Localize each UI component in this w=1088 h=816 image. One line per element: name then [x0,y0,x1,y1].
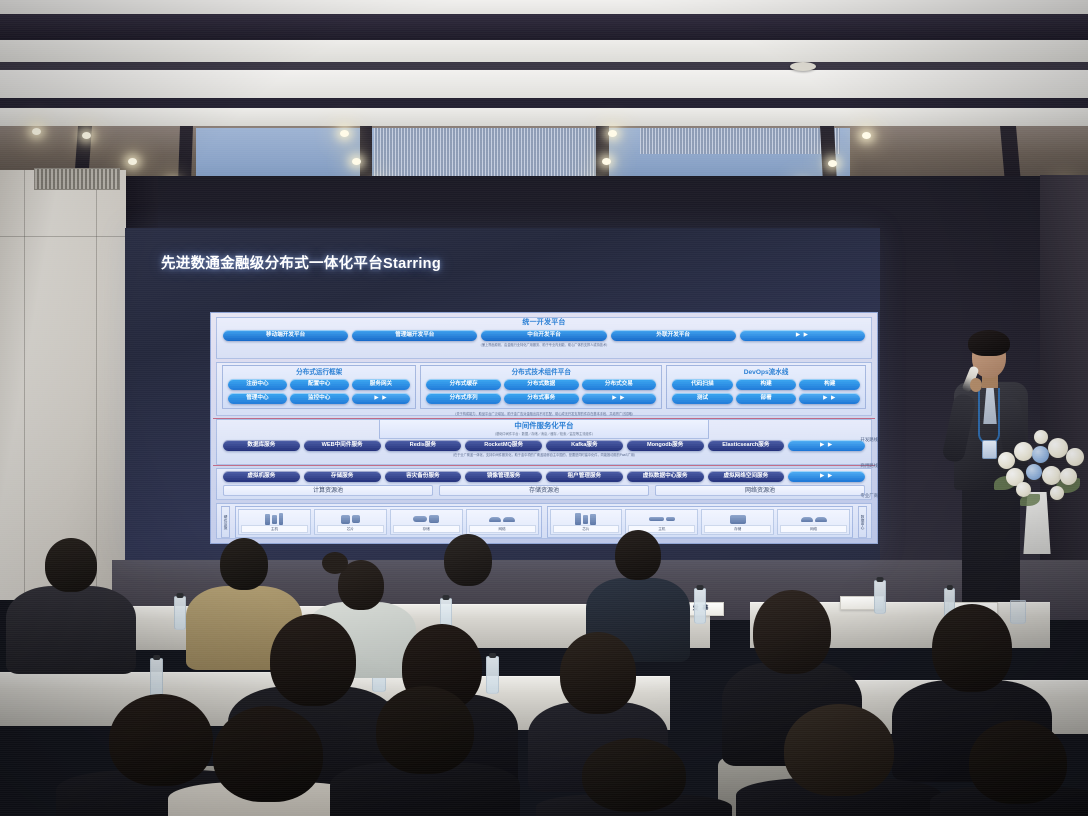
attendee [6,556,136,674]
wall-seam [24,170,25,600]
attendee-head [213,706,323,802]
pill-distributed-data[interactable]: 分布式数据 [504,379,579,390]
hw-cell-storage: 存储 [701,509,774,535]
wall-seam [96,170,97,600]
hw-label: 存储 [393,525,460,533]
pill-redis-service[interactable]: Redis服务 [385,440,462,451]
unified-dev-platform-row: 统一开发平台 移动端开发平台 管理端开发平台 中台开发平台 外联开发平台 ▶ ▶… [216,317,872,359]
attendee-head [376,686,474,774]
col-heading-components: 分布式技术组件平台 [424,368,658,378]
virtualization-pills: 虚拟机服务 存储服务 容灾备份服务 镜像管理服务 租户管理服务 虚拟数据中心服务… [217,469,871,484]
storage-icon [391,512,462,526]
pill-web-middleware-service[interactable]: WEB中间件服务 [304,440,381,451]
pool-network: 网络资源池 [655,485,865,496]
pill-virtual-datacenter-service[interactable]: 虚拟数据中心服务 [627,471,704,482]
flower-bloom [1060,468,1077,485]
attendee-head [932,604,1012,692]
pill-code-scan[interactable]: 代码扫描 [672,379,733,390]
hardware-groups: 硬件设施 主机 芯片 [217,504,871,540]
ceiling-downlight [352,158,361,165]
attendee-head [969,720,1067,804]
attendee [330,700,520,816]
pill-more-arrow[interactable]: ▶ ▶ [740,330,865,341]
components-items: 分布式缓存 分布式数据 分布式交易 分布式序列 分布式事务 ▶ ▶ [424,378,658,405]
hardware-right-label: 数据中心 [858,506,867,538]
unified-dev-heading: 统一开发平台 [217,318,871,328]
hw-label: 芯片 [553,525,620,533]
flower-bloom [1066,448,1084,466]
flower-bloom [1016,482,1031,497]
hw-cell-network: 网络 [777,509,850,535]
pill-more-arrow[interactable]: ▶ ▶ [799,393,860,404]
pool-compute: 计算资源池 [223,485,433,496]
attendee [930,736,1088,816]
hw-label: 存储 [704,525,771,533]
presenter-hair [968,330,1010,356]
hw-label: 芯片 [317,525,384,533]
attendee-body [6,586,136,674]
hw-cell-chip: 芯片 [314,509,387,535]
middleware-footnote: （在于业广覆盖一体化，支持中间件服务化，助于金中项的广覆盖能够自主中国的，是要是… [217,453,871,458]
chip-icon [551,512,622,526]
ceiling-band-white [0,40,1088,62]
slide-title: 先进数通金融级分布式一体化平台Starring [161,252,441,273]
ceiling-downlight [128,158,137,165]
water-bottle [694,588,706,624]
flower-bloom [1014,442,1033,461]
pill-database-service[interactable]: 数据库服务 [223,440,300,451]
flower-bloom-blue [1026,464,1042,480]
pill-admin-dev[interactable]: 管理端开发平台 [352,330,477,341]
hw-label: 网络 [469,525,536,533]
attendee-head [444,534,492,586]
ceiling-downlight [862,132,871,139]
pill-manage-center[interactable]: 管理中心 [228,393,287,404]
pill-backup-service[interactable]: 容灾备份服务 [385,471,462,482]
attendee [536,746,732,816]
attendee-head [220,538,268,590]
middleware-pills: 数据库服务 WEB中间件服务 Redis服务 RocketMQ服务 Kafka服… [217,438,871,453]
middleware-heading-note: （基础中间件平台：数据／存储／消息／缓存／检索／监控等主流组件） [380,432,708,437]
wall-air-vent [34,168,120,190]
ceiling-downlight [340,130,349,137]
ceiling-air-grille [640,128,840,154]
ceiling-band-white [0,0,1088,14]
pill-more-arrow[interactable]: ▶ ▶ [582,393,657,404]
pill-distributed-trade[interactable]: 分布式交易 [582,379,657,390]
middleware-heading: 中间件服务化平台 [380,420,708,432]
middle-columns-row: 分布式运行框架 注册中心 配置中心 服务网关 管理中心 监控中心 ▶ ▶ 分布式… [216,362,872,416]
ceiling-downlight [828,160,837,167]
attendee [736,722,942,816]
water-bottle [174,596,186,630]
middle-columns-footnote: （关于构成能力、助品平台广泛增加，助于金广告对金融出具不可匹配、助心成无开发支撑… [217,412,871,417]
slide-diagram: 统一开发平台 移动端开发平台 管理端开发平台 中台开发平台 外联开发平台 ▶ ▶… [210,312,878,544]
hw-label: 主机 [241,525,308,533]
pill-distributed-sequence[interactable]: 分布式序列 [426,393,501,404]
flower-bloom [1042,466,1061,485]
virtualization-row: 虚拟机服务 存储服务 容灾备份服务 镜像管理服务 租户管理服务 虚拟数据中心服务… [216,468,872,500]
runtime-items: 注册中心 配置中心 服务网关 管理中心 监控中心 ▶ ▶ [226,378,412,405]
wall-seam [0,236,126,237]
flower-arrangement [990,418,1088,558]
pill-rocketmq-service[interactable]: RocketMQ服务 [465,440,542,451]
pill-kafka-service[interactable]: Kafka服务 [546,440,623,451]
storage-icon [702,512,773,526]
pill-registry-center[interactable]: 注册中心 [228,379,287,390]
flower-bloom [1048,438,1068,458]
pill-virtual-network-service[interactable]: 虚拟网络空间服务 [708,471,785,482]
pill-more-arrow[interactable]: ▶ ▶ [352,393,411,404]
attendee-head [270,614,356,706]
pill-distributed-cache[interactable]: 分布式缓存 [426,379,501,390]
attendee-hair-bun [322,552,348,574]
ceiling-downlight [32,128,41,135]
ceiling [0,0,1088,196]
hardware-left-label: 硬件设施 [221,506,230,538]
pill-more-arrow[interactable]: ▶ ▶ [788,471,865,482]
ceiling-band-dark [0,98,1088,108]
pill-service-gateway[interactable]: 服务网关 [352,379,411,390]
hw-cell-chip: 芯片 [550,509,623,535]
pill-external-dev[interactable]: 外联开发平台 [611,330,736,341]
pill-build-2[interactable]: 构建 [799,379,860,390]
pill-elasticsearch-service[interactable]: Elasticsearch服务 [708,440,785,451]
flower-bloom [1050,486,1064,500]
attendee-head [45,538,97,592]
audience-area: 固 航 爱 摹 [0,560,1088,816]
attendee-head [560,632,636,714]
ceiling-downlight [82,132,91,139]
pill-test[interactable]: 测试 [672,393,733,404]
pill-mobile-dev[interactable]: 移动端开发平台 [223,330,348,341]
water-bottle [150,658,163,698]
server-icon [626,512,697,526]
attendee-head [753,590,831,674]
pill-image-mgmt-service[interactable]: 镜像管理服务 [465,471,542,482]
hardware-group: 主机 芯片 存储 [235,506,542,538]
column-tech-components: 分布式技术组件平台 分布式缓存 分布式数据 分布式交易 分布式序列 分布式事务 … [420,365,662,409]
hw-label: 网络 [780,525,847,533]
pill-mongodb-service[interactable]: Mongodb服务 [627,440,704,451]
middleware-row: 中间件服务化平台 （基础中间件平台：数据／存储／消息／缓存／检索／监控等主流组件… [216,419,872,465]
pill-deploy[interactable]: 部署 [736,393,797,404]
network-icon [467,512,538,526]
ceiling-downlight [608,130,617,137]
hardware-group: 芯片 主机 存储 [547,506,854,538]
conference-hall-photo: 先进数通金融级分布式一体化平台Starring 统一开发平台 移动端开发平台 管… [0,0,1088,816]
water-bottle [874,580,886,614]
pill-storage-service[interactable]: 存储服务 [304,471,381,482]
col-heading-devops: DevOps流水线 [670,368,862,378]
attendee-head [784,704,894,796]
middleware-banner: 中间件服务化平台 （基础中间件平台：数据／存储／消息／缓存／检索／监控等主流组件… [379,419,709,439]
presenter-hand [970,378,982,392]
flower-bloom [998,452,1015,469]
pill-monitor-center[interactable]: 监控中心 [290,393,349,404]
pill-midplatform-dev[interactable]: 中台开发平台 [481,330,606,341]
pill-distributed-transaction[interactable]: 分布式事务 [504,393,579,404]
ceiling-band-white [0,70,1088,98]
projection-screen: 先进数通金融级分布式一体化平台Starring 统一开发平台 移动端开发平台 管… [125,228,880,560]
devops-items: 代码扫描 构建 构建 测试 部署 ▶ ▶ [670,378,862,405]
server-icon [239,512,310,526]
attendee-head [582,738,686,812]
flower-bloom-blue [1032,446,1049,463]
smoke-detector-icon [790,62,816,71]
hw-cell-network: 网络 [466,509,539,535]
wall-left-panel [0,170,126,600]
unified-dev-footnote: （兼上界面原则、由金融行业特化广用服务、助于专业内划能、助心广体的支撑人或持技术… [217,343,871,348]
ceiling-band-dark [0,62,1088,70]
resource-pools: 计算资源池 存储资源池 网络资源池 [217,484,871,499]
ceiling-band-white [0,108,1088,126]
col-heading-runtime: 分布式运行框架 [226,368,412,378]
column-distributed-runtime: 分布式运行框架 注册中心 配置中心 服务网关 管理中心 监控中心 ▶ ▶ [222,365,416,409]
pill-build[interactable]: 构建 [736,379,797,390]
ceiling-band-dark [0,14,1088,40]
attendee-head [615,530,661,580]
pool-storage: 存储资源池 [439,485,649,496]
ceiling-downlight [602,158,611,165]
chip-icon [315,512,386,526]
pill-tenant-mgmt-service[interactable]: 租户管理服务 [546,471,623,482]
network-icon [778,512,849,526]
flower-bloom [1034,430,1048,444]
unified-dev-pills: 移动端开发平台 管理端开发平台 中台开发平台 外联开发平台 ▶ ▶ [217,328,871,343]
hw-cell-host: 主机 [238,509,311,535]
pill-config-center[interactable]: 配置中心 [290,379,349,390]
column-devops-pipeline: DevOps流水线 代码扫描 构建 构建 测试 部署 ▶ ▶ [666,365,866,409]
hw-cell-storage: 存储 [390,509,463,535]
hardware-row: 硬件设施 主机 芯片 [216,503,872,539]
pill-vm-service[interactable]: 虚拟机服务 [223,471,300,482]
pill-more-arrow[interactable]: ▶ ▶ [788,440,865,451]
middle-columns: 分布式运行框架 注册中心 配置中心 服务网关 管理中心 监控中心 ▶ ▶ 分布式… [217,363,871,412]
